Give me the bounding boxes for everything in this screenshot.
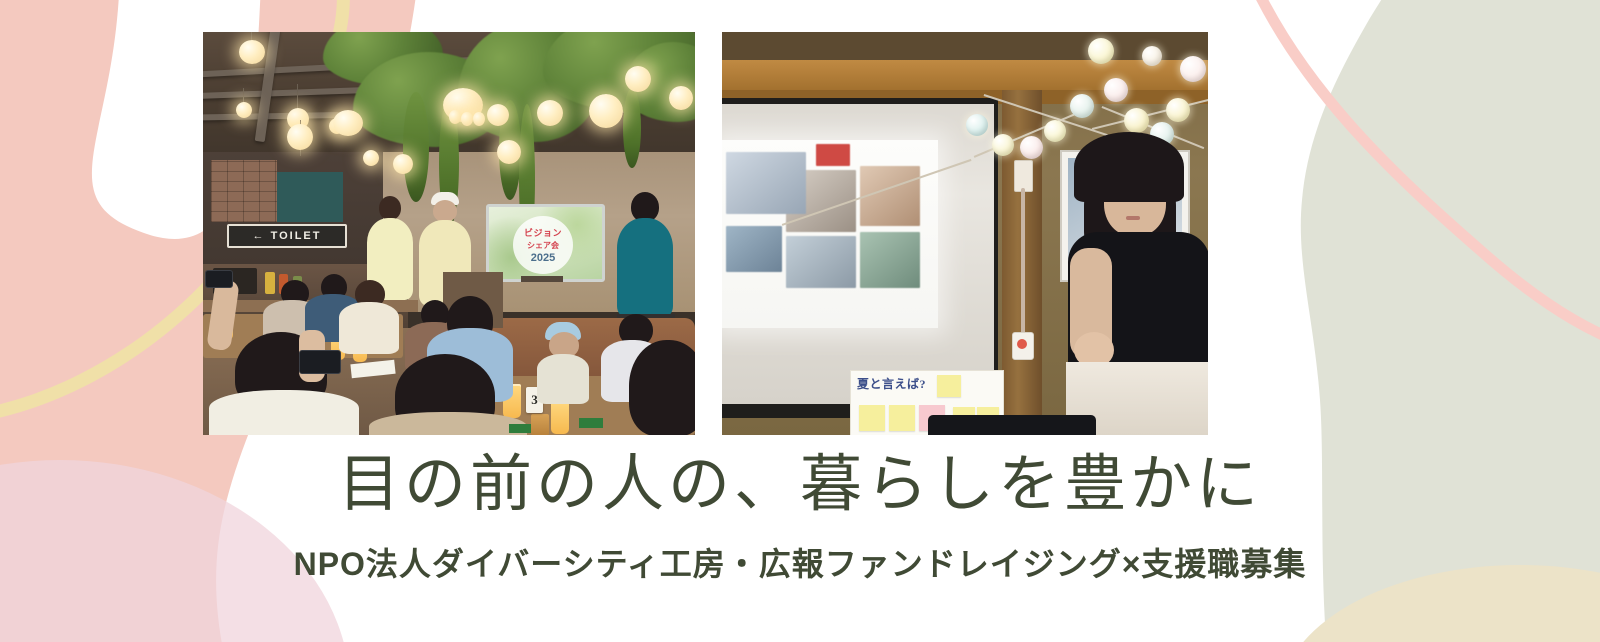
slide-photo [726,226,782,272]
garland-ball [966,114,988,136]
smartphone [299,350,341,374]
badge-line-2: シェア会 [527,240,559,251]
brick-panel [211,160,277,222]
presenter-mouth [1126,216,1140,220]
presentation-screen: ビジョン シェア会 2025 [486,204,605,282]
pendant-light [363,150,379,166]
audience-body [339,302,399,354]
pendant-light [625,66,651,92]
sticky-note [859,405,885,431]
foreground-head [629,340,695,435]
wooden-beam [722,60,1208,90]
ceiling [722,32,1208,62]
teal-panel [277,172,343,222]
projected-slide [722,140,938,328]
pendant-light [669,86,693,110]
garland-ball [1088,38,1114,64]
drink-glass [551,400,569,434]
chandelier-bulb [461,112,473,126]
sticky-note [889,405,915,431]
poster-title: 夏と言えば? [857,375,926,392]
page-headline: 目の前の人の、暮らしを豊かに [0,450,1600,521]
pendant-light [393,154,413,174]
garland-ball [1142,46,1162,66]
hanging-vine [623,88,641,168]
pendant-light [239,40,265,64]
badge-year: 2025 [531,252,555,264]
pendant-light [589,94,623,128]
drink-glass [531,414,549,435]
garland-ball [1104,78,1128,102]
smartphone [205,270,233,288]
hanging-badge [1012,332,1034,360]
laptop [928,415,1096,435]
foreground-body [209,390,359,435]
presenter-head [433,200,457,222]
text-block: 目の前の人の、暮らしを豊かに NPO法人ダイバーシティ工房・広報ファンドレイジン… [0,450,1600,585]
photo-row: ← TOILET [203,32,1208,435]
bottle [265,272,275,294]
garland-ball [992,134,1014,156]
garland-ball [1070,94,1094,118]
page-subtitle: NPO法人ダイバーシティ工房・広報ファンドレイジング×支援職募集 [0,539,1600,585]
garland-ball [1124,108,1149,133]
toilet-sign: ← TOILET [227,224,347,248]
garland-ball [1180,56,1206,82]
presenter-body [617,218,673,318]
slide-photo [786,236,856,288]
hanging-vine [403,92,429,202]
vision-share-badge: ビジョン シェア会 2025 [513,216,573,274]
chandelier-bulb [449,110,461,124]
foreground-body [369,412,527,435]
garland-ball [1044,120,1066,142]
slide-photo [860,166,920,226]
presenter-hair-top [1074,132,1184,202]
badge-line-1: ビジョン [524,226,562,239]
sticky-note [937,375,961,397]
photo-cafe-vision-share-event: ← TOILET [203,32,695,435]
photo-presenter-with-screen: 夏と言えば? [722,32,1208,435]
slide-accent [816,144,850,166]
pink-curve-line [1248,0,1600,356]
snack-pack [579,418,603,428]
chandelier [333,110,363,136]
presenter-head [379,196,401,220]
snack-pack [509,424,531,433]
pendant-light [537,100,563,126]
pendant-light [497,140,521,164]
pendant-light [487,104,509,126]
pendant-light [287,124,313,150]
garland-ball [1020,136,1043,159]
slide-photo [726,152,806,214]
chandelier-bulb [473,112,485,126]
lanyard-cord [1021,188,1025,336]
garland-ball [1166,98,1190,122]
slide-photo [860,232,920,288]
pendant-light [236,102,252,118]
child-body [537,354,589,404]
banner-stage: ← TOILET [0,0,1600,642]
screen-stand [521,276,563,282]
